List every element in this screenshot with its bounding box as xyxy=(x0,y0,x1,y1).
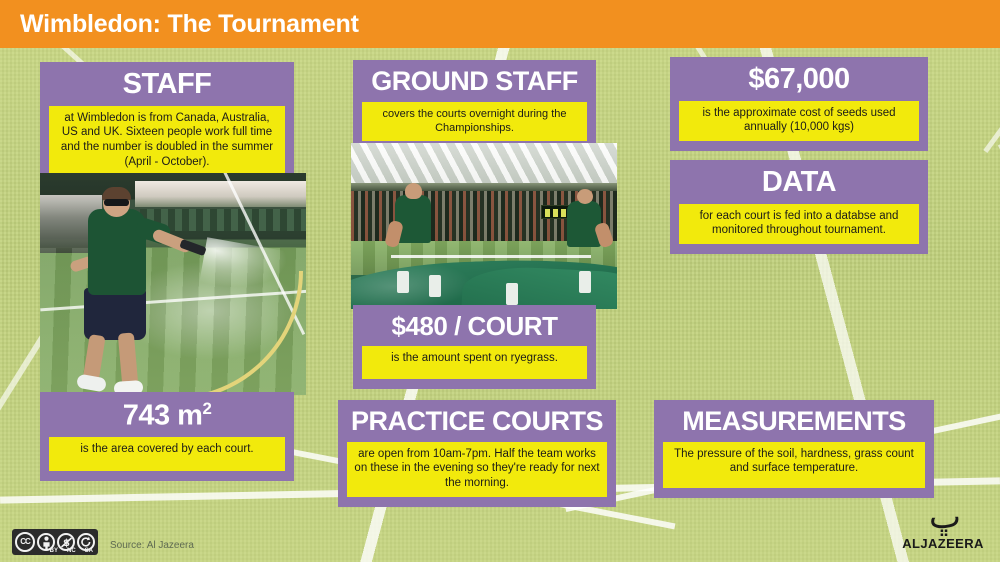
card-ryegrass-cost-body: is the amount spent on ryegrass. xyxy=(362,346,587,380)
cc-label-sa: SA xyxy=(85,548,93,554)
card-staff-body: at Wimbledon is from Canada, Australia, … xyxy=(49,106,285,176)
photo-scoreboard-digit xyxy=(561,209,566,217)
court-covering-photo xyxy=(351,143,617,309)
aljazeera-logo: ڀ ALJAZEERA xyxy=(895,498,991,554)
photo-tarp-tab xyxy=(579,271,591,293)
header-bar: Wimbledon: The Tournament xyxy=(0,0,1000,48)
card-seeds-cost-heading: $67,000 xyxy=(679,64,919,101)
card-data: DATA for each court is fed into a databs… xyxy=(670,160,928,254)
photo-head xyxy=(405,183,422,199)
card-staff-heading: STAFF xyxy=(49,69,285,106)
photo-head xyxy=(577,189,593,204)
photo-scoreboard-digit xyxy=(545,209,550,217)
card-staff: STAFF at Wimbledon is from Canada, Austr… xyxy=(40,62,294,185)
photo-scoreboard-digit xyxy=(553,209,558,217)
card-data-body: for each court is fed into a databse and… xyxy=(679,204,919,244)
card-measurements-heading: MEASUREMENTS xyxy=(663,407,925,442)
card-seeds-cost-body: is the approximate cost of seeds used an… xyxy=(679,101,919,141)
card-ground-staff-body: covers the courts overnight during the C… xyxy=(362,102,587,141)
card-ryegrass-cost-heading: $480 / COURT xyxy=(362,312,587,346)
card-ryegrass-cost: $480 / COURT is the amount spent on ryeg… xyxy=(353,305,596,389)
source-attribution: Source: Al Jazeera xyxy=(110,540,194,551)
photo-sunglasses xyxy=(104,199,129,206)
card-court-area-heading: 743 m2 xyxy=(49,399,285,437)
card-practice-courts: PRACTICE COURTS are open from 10am-7pm. … xyxy=(338,400,616,507)
aljazeera-calligraphy-icon: ڀ xyxy=(919,498,971,536)
card-court-area: 743 m2 is the area covered by each court… xyxy=(40,392,294,481)
court-area-superscript: 2 xyxy=(202,399,211,418)
page-title: Wimbledon: The Tournament xyxy=(0,10,359,39)
card-measurements: MEASUREMENTS The pressure of the soil, h… xyxy=(654,400,934,498)
creative-commons-labels: BY NC SA xyxy=(12,548,98,554)
aljazeera-wordmark: ALJAZEERA xyxy=(895,536,991,551)
photo-tarp-tab xyxy=(506,283,518,305)
photo-tarp-tab xyxy=(397,271,409,293)
cc-label-by: BY xyxy=(50,548,58,554)
groundsman-watering-photo xyxy=(40,173,306,395)
photo-stadium-roof xyxy=(351,143,617,187)
card-ground-staff-heading: GROUND STAFF xyxy=(362,67,587,102)
infographic-canvas: Wimbledon: The Tournament STAFF at Wimbl… xyxy=(0,0,1000,562)
card-data-heading: DATA xyxy=(679,167,919,204)
photo-court-line xyxy=(391,255,591,258)
card-measurements-body: The pressure of the soil, hardness, gras… xyxy=(663,442,925,488)
court-area-value: 743 m xyxy=(123,400,203,432)
photo-shorts xyxy=(84,288,146,340)
card-ground-staff: GROUND STAFF covers the courts overnight… xyxy=(353,60,596,151)
card-court-area-body: is the area covered by each court. xyxy=(49,437,285,471)
cc-logo-label: CC xyxy=(20,538,30,546)
card-practice-courts-heading: PRACTICE COURTS xyxy=(347,407,607,442)
card-seeds-cost: $67,000 is the approximate cost of seeds… xyxy=(670,57,928,151)
photo-tarp-tab xyxy=(429,275,441,297)
card-practice-courts-body: are open from 10am-7pm. Half the team wo… xyxy=(347,442,607,497)
photo-groundsman xyxy=(567,201,601,247)
cc-label-nc: NC xyxy=(67,548,76,554)
photo-stand xyxy=(135,181,306,207)
